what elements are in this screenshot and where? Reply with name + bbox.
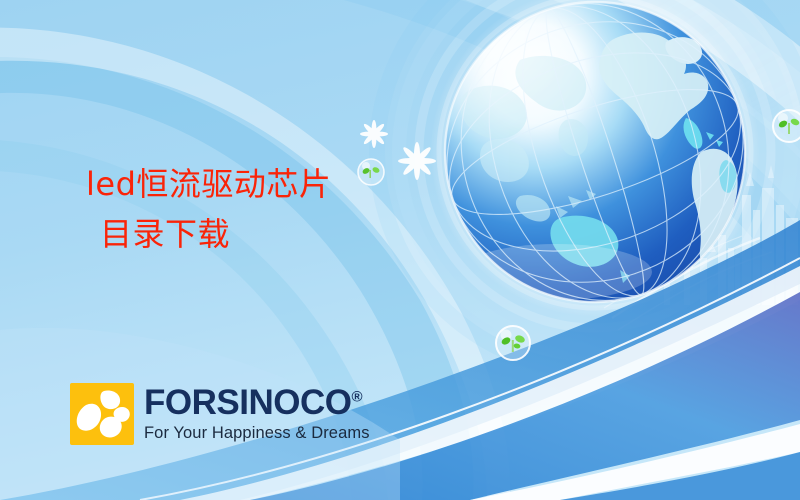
headline-line-2: 目录下载 xyxy=(86,213,331,255)
registered-trademark-icon: ® xyxy=(351,388,362,405)
bubble-sprout-right xyxy=(773,110,800,142)
headline-text: led恒流驱动芯片 目录下载 xyxy=(86,163,331,255)
four-petal-pinwheel-icon xyxy=(70,383,134,445)
white-flower-2 xyxy=(398,142,436,180)
company-logo: FORSINOCO® For Your Happiness & Dreams xyxy=(70,383,370,445)
banner-image: led恒流驱动芯片 目录下载 FORSINOCO® For Your Happi… xyxy=(0,0,800,500)
bubble-sprout-bottom xyxy=(496,326,530,360)
headline-line-1: led恒流驱动芯片 xyxy=(86,163,331,205)
logo-text-block: FORSINOCO® For Your Happiness & Dreams xyxy=(144,383,370,445)
logo-wordmark-text: FORSINOCO xyxy=(144,383,351,422)
logo-mark xyxy=(70,383,134,445)
bubble-sprout-left xyxy=(358,159,384,185)
white-flower-1 xyxy=(360,120,388,148)
logo-wordmark: FORSINOCO® xyxy=(144,385,370,420)
logo-tagline: For Your Happiness & Dreams xyxy=(144,425,370,442)
